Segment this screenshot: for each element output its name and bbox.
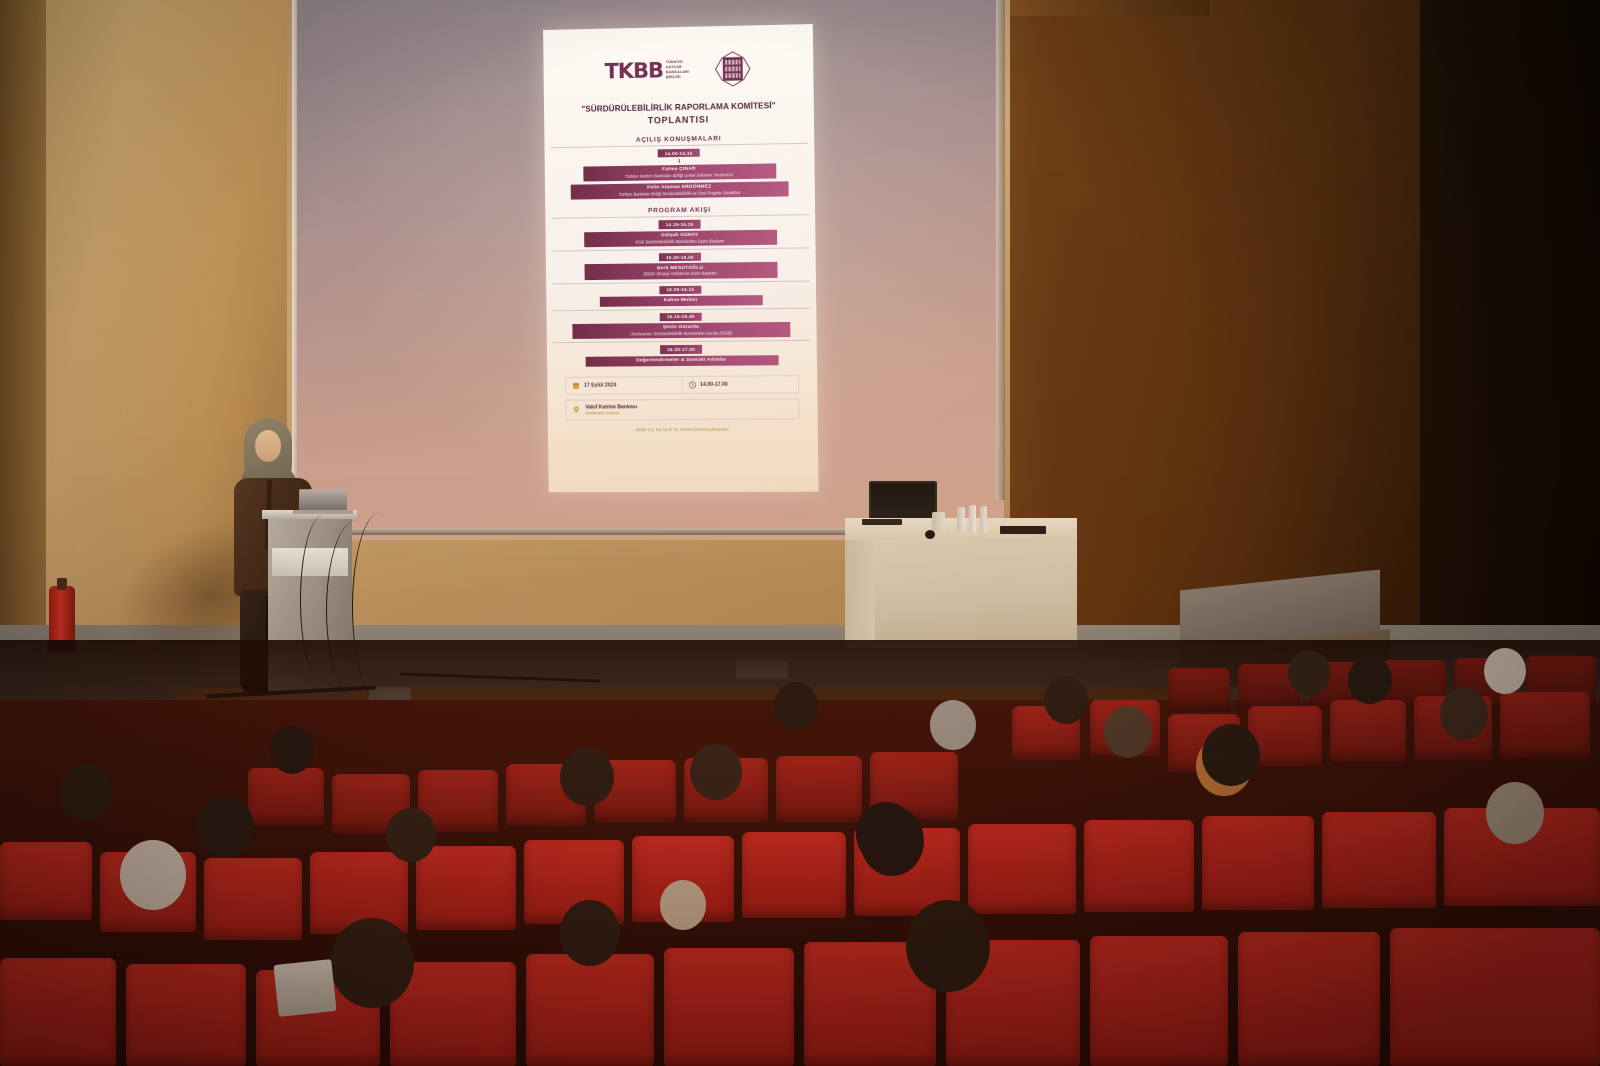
panel-table-drape (845, 523, 875, 641)
speaker-role: BDDK Strateji Geliştirme Daire Başkanı (588, 270, 773, 277)
presentation-slide: TKBB TÜRKİYE KATILIM BANKALARI BİRLİĞİ (543, 24, 818, 492)
screen-frame-right (996, 0, 1005, 500)
event-date: 17 Eylül 2024 (584, 382, 616, 388)
attendee-tablet (273, 959, 336, 1017)
tkbb-logo: TKBB TÜRKİYE KATILIM BANKALARI BİRLİĞİ (604, 59, 689, 82)
table-keyboard (862, 519, 902, 525)
time-pill: 16.00-16.15 (659, 285, 701, 294)
closing-label: Değerlendirmeler & Sonraki Adımlar (589, 357, 774, 363)
venue-subtitle: Konferans Salonu (585, 410, 637, 415)
venue-address: Mahir Cd. No:10 D: B, 34768 Ümraniye/İst… (558, 426, 808, 432)
tkbb-subtitle: TÜRKİYE KATILIM BANKALARI BİRLİĞİ (666, 59, 689, 80)
water-bottles (957, 505, 993, 533)
time-pill: 14.15-15.15 (659, 220, 701, 229)
event-time: 14.00-17.00 (700, 381, 728, 387)
speaker-role: Uluslararası Sürdürülebilirlik Standartl… (576, 330, 786, 337)
speaker-block: Fatma ÇINAR Türkiye Katılım Bankaları Bi… (583, 163, 776, 181)
tkbb-wordmark: TKBB (604, 60, 663, 82)
slide-logo-row: TKBB TÜRKİYE KATILIM BANKALARI BİRLİĞİ (553, 44, 803, 95)
event-venue-row: Vakıf Katılım Bankası Konferans Salonu (565, 398, 799, 420)
map-pin-icon (572, 406, 580, 414)
divider (552, 247, 810, 251)
speaker-block: Şevin Gürarda Uluslararası Sürdürülebili… (572, 322, 790, 339)
podium-laptop (299, 489, 347, 512)
divider (552, 308, 810, 312)
calendar-icon (572, 382, 580, 390)
table-nameplate (1000, 526, 1046, 534)
speaker-role: KGK Sürdürülebilirlik Standartları Daire… (588, 237, 773, 244)
closing-block: Değerlendirmeler & Sonraki Adımlar (585, 355, 778, 367)
wall-right-curtain (1420, 0, 1600, 720)
speaker-block: Berk MESUTOĞLU BDDK Strateji Geliştirme … (584, 262, 777, 280)
break-block: Kahve Molası (599, 295, 762, 307)
time-pill: 16.30-17.00 (660, 345, 702, 354)
venue-text: Vakıf Katılım Bankası Konferans Salonu (585, 404, 637, 415)
water-glass (932, 512, 945, 532)
time-pill: 15.30-16.00 (659, 253, 701, 262)
divider (552, 280, 810, 284)
time-pill: 14.00-14.15 (658, 149, 700, 158)
event-date-cell: 17 Eylül 2024 (566, 377, 681, 394)
ceiling-beam (1010, 0, 1210, 16)
speaker-block: Pelin Ataman ERDÖNMEZ Türkiye Bankalar B… (571, 181, 789, 200)
tkbb-subtitle-line-4: BİRLİĞİ (666, 75, 689, 81)
table-microphone (925, 530, 935, 539)
clock-icon (688, 381, 696, 389)
event-meta-row: 17 Eylül 2024 14.00-17.00 (565, 375, 799, 395)
divider (553, 340, 811, 343)
speaker-block: Gülşah GÜNAY KGK Sürdürülebilirlik Stand… (584, 229, 777, 247)
auditorium-scene: TKBB TÜRKİYE KATILIM BANKALARI BİRLİĞİ (0, 0, 1600, 1066)
slide-title: "SÜRDÜRÜLEBİLİRLİK RAPORLAMA KOMİTESİ" T… (554, 100, 804, 130)
time-pill: 16.15-16.45 (660, 313, 702, 322)
podium-laptop-base (293, 510, 353, 514)
presenter-face (255, 430, 281, 462)
wall-left-corner (0, 0, 46, 700)
event-time-cell: 14.00-17.00 (681, 376, 798, 393)
vakif-katilim-emblem-icon (715, 50, 752, 87)
break-label: Kahve Molası (603, 297, 758, 304)
connector-line (678, 159, 679, 163)
